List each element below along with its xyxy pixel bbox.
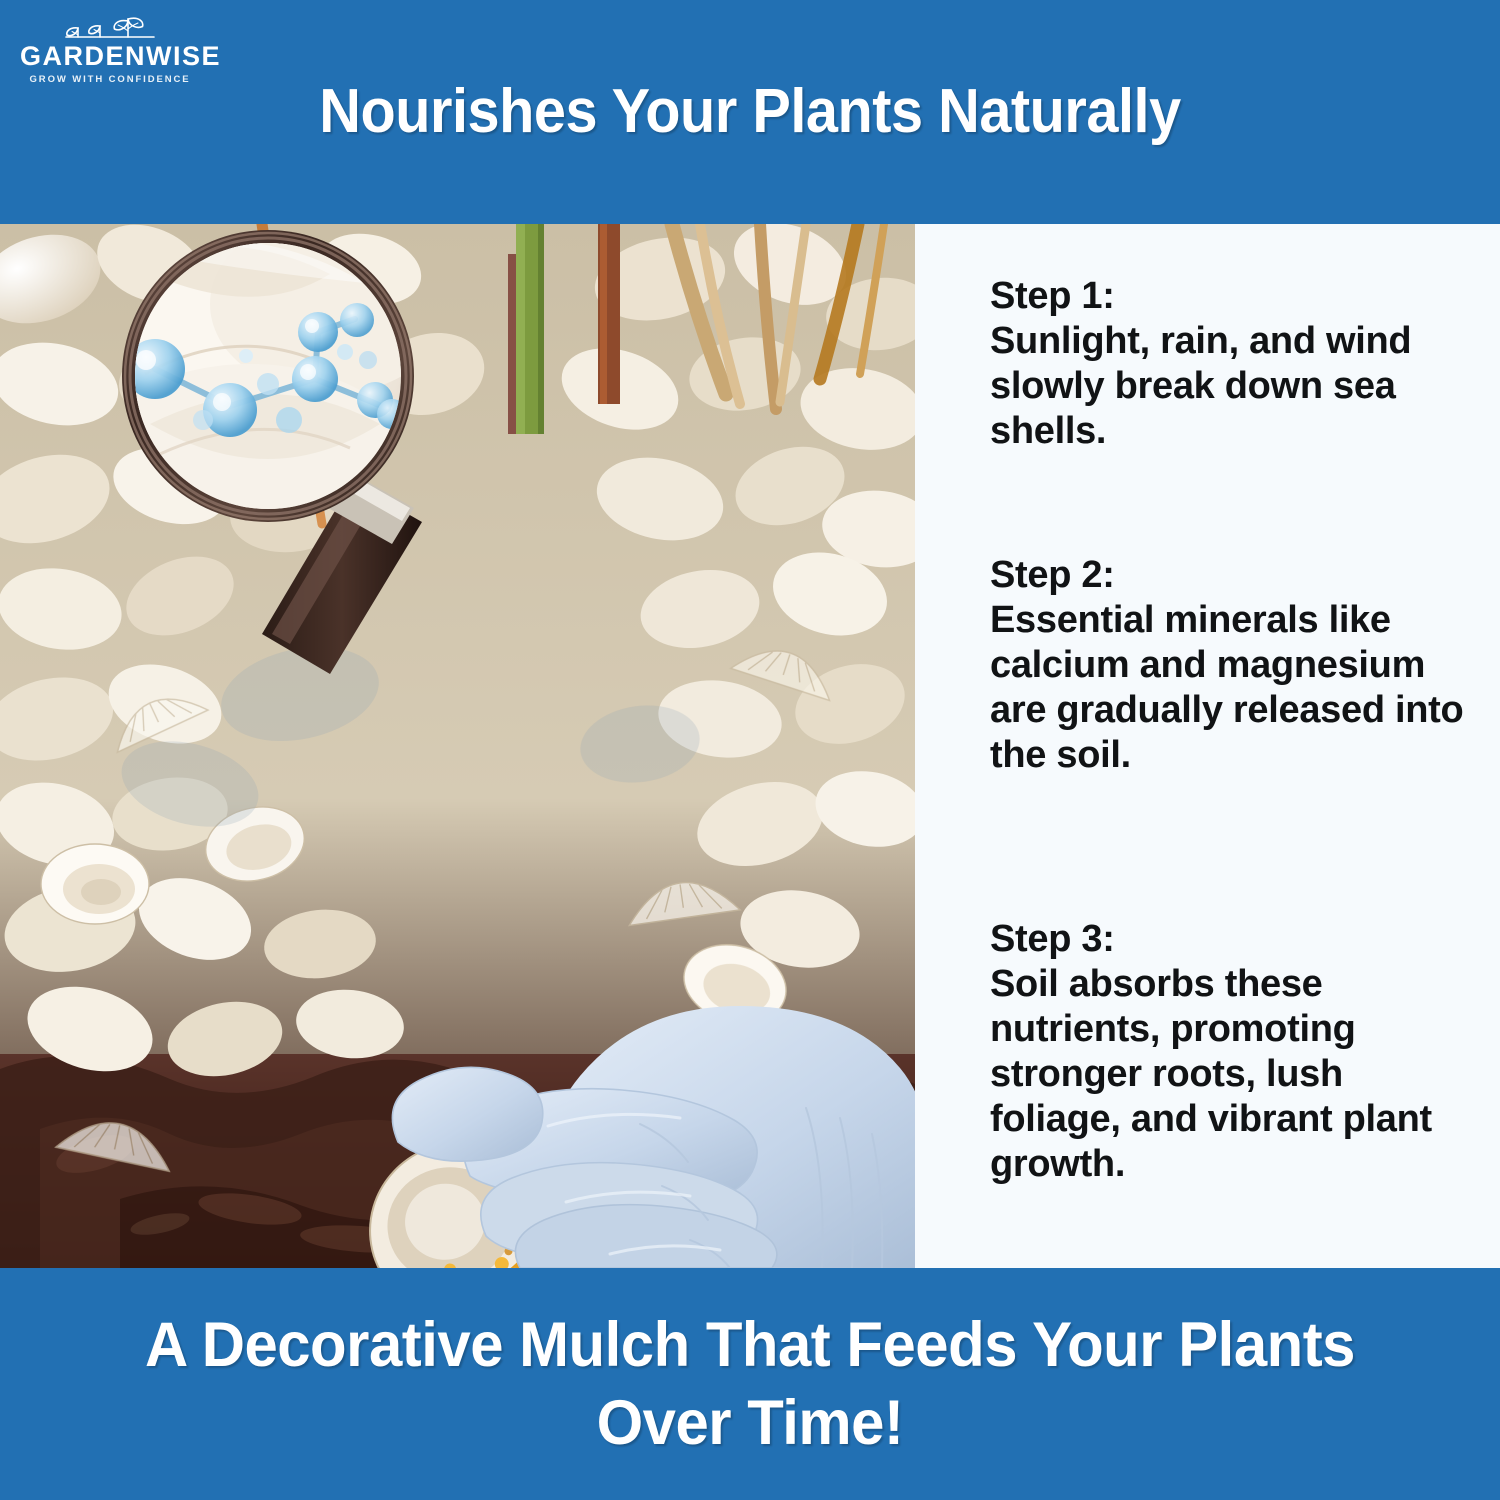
step-3: Step 3: Soil absorbs these nutrients, pr… [990,917,1480,1187]
sea-shell-mulch-photo [0,224,915,1268]
page-title: Nourishes Your Plants Naturally [53,76,1448,148]
step-1-body: Sunlight, rain, and wind slowly break do… [990,319,1480,454]
step-3-heading: Step 3: [990,917,1480,962]
body-area: Step 1: Sunlight, rain, and wind slowly … [0,224,1500,1268]
brand-name: GARDENWISE [20,41,200,71]
sprout-leaves-icon [20,8,200,42]
step-2: Step 2: Essential minerals like calcium … [990,553,1480,778]
footer-line-2: Over Time! [38,1384,1463,1462]
step-2-body: Essential minerals like calcium and magn… [990,598,1480,778]
step-1-heading: Step 1: [990,274,1480,319]
footer-line-1: A Decorative Mulch That Feeds Your Plant… [38,1306,1463,1384]
steps-panel: Step 1: Sunlight, rain, and wind slowly … [915,224,1500,1268]
step-1: Step 1: Sunlight, rain, and wind slowly … [990,274,1480,454]
step-2-heading: Step 2: [990,553,1480,598]
footer-banner: A Decorative Mulch That Feeds Your Plant… [0,1268,1500,1500]
step-3-body: Soil absorbs these nutrients, promoting … [990,962,1480,1187]
footer-tagline: A Decorative Mulch That Feeds Your Plant… [38,1306,1463,1462]
header-banner: GARDENWISE GROW WITH CONFIDENCE Nourishe… [0,0,1500,224]
infographic-page: GARDENWISE GROW WITH CONFIDENCE Nourishe… [0,0,1500,1500]
